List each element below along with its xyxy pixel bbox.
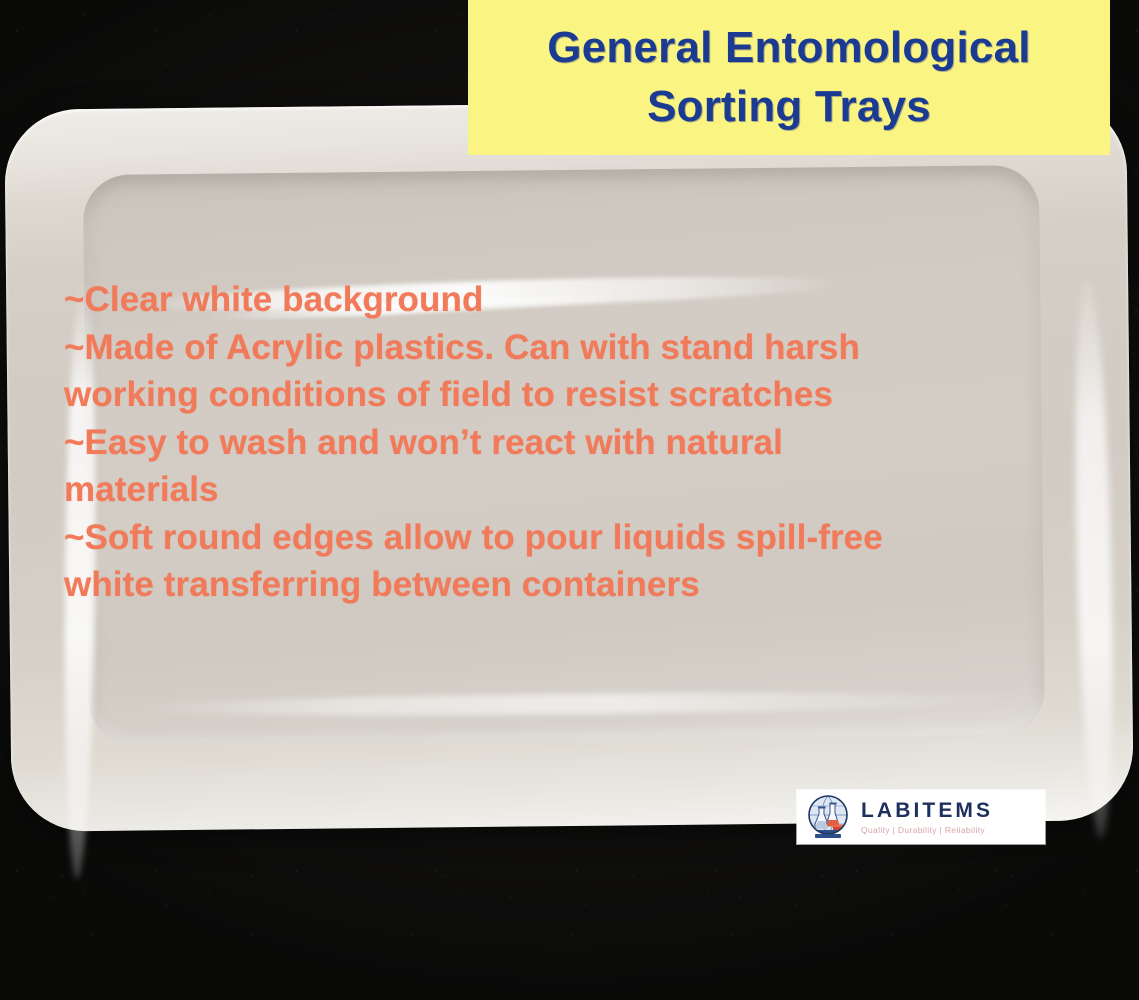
brand-tagline: Quality | Durability | Reliability bbox=[861, 826, 993, 835]
title-banner: General Entomological Sorting Trays bbox=[468, 0, 1110, 155]
page-title: General Entomological Sorting Trays bbox=[533, 19, 1044, 135]
feature-line: ~Made of Acrylic plastics. Can with stan… bbox=[64, 324, 1064, 372]
feature-line: working conditions of field to resist sc… bbox=[64, 371, 1064, 419]
feature-line: ~Soft round edges allow to pour liquids … bbox=[64, 514, 1064, 562]
feature-line: white transferring between containers bbox=[64, 561, 1064, 609]
feature-line: materials bbox=[64, 466, 1064, 514]
lab-glassware-globe-icon bbox=[803, 794, 855, 840]
brand-wordmark: LABITEMS Quality | Durability | Reliabil… bbox=[861, 800, 993, 835]
feature-line: ~Easy to wash and won’t react with natur… bbox=[64, 419, 1064, 467]
title-line-1: General Entomological bbox=[547, 23, 1030, 72]
brand-watermark: LABITEMS Quality | Durability | Reliabil… bbox=[797, 790, 1045, 844]
title-line-2: Sorting Trays bbox=[647, 82, 931, 131]
product-photo-canvas: General Entomological Sorting Trays ~Cle… bbox=[0, 0, 1139, 1000]
feature-list: ~Clear white background ~Made of Acrylic… bbox=[64, 276, 1064, 609]
feature-line: ~Clear white background bbox=[64, 276, 1064, 324]
tray-gloss-highlight-right bbox=[1070, 278, 1118, 839]
brand-name: LABITEMS bbox=[861, 800, 993, 821]
